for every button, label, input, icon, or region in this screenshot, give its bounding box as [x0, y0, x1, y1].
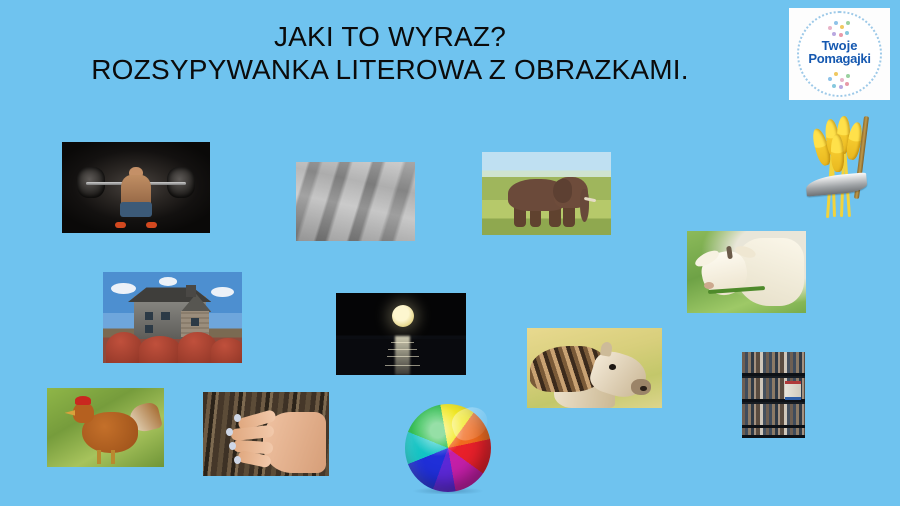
chicken-leg-2	[111, 450, 115, 464]
bush-4	[211, 338, 242, 363]
house-window-3	[145, 325, 153, 333]
bush-1	[106, 332, 142, 363]
elephant-trunk	[580, 189, 589, 222]
water-ripple-3	[387, 356, 420, 357]
chicken-leg-1	[97, 450, 101, 464]
picture-moon[interactable]	[336, 293, 466, 375]
picture-chicken[interactable]	[47, 388, 164, 467]
goat-scene	[687, 231, 806, 313]
cloud-3	[159, 277, 177, 285]
page-title: JAKI TO WYRAZ? ROZSYPYWANKA LITEROWA Z O…	[0, 20, 780, 86]
twoje-pomagajki-logo: Twoje Pomagajki	[789, 8, 890, 100]
house-scene	[103, 272, 242, 363]
elephant-scene	[482, 152, 611, 235]
chicken-head	[73, 402, 94, 423]
picture-goat[interactable]	[687, 231, 806, 313]
house-window-4	[191, 318, 199, 326]
logo-line-2: Pomagajki	[789, 52, 890, 65]
moon-scene	[336, 293, 466, 375]
scythe-clipart	[798, 112, 890, 224]
snowflake-icon-top	[826, 19, 852, 39]
water-ripple-1	[391, 342, 414, 343]
house-window-2	[161, 312, 169, 320]
chicken-comb	[75, 396, 91, 405]
bookshelf-row-4	[742, 428, 805, 438]
water-ripple-2	[388, 349, 417, 350]
title-line-1: JAKI TO WYRAZ?	[0, 20, 780, 53]
blanket-texture	[296, 162, 415, 241]
picture-horse[interactable]	[527, 328, 662, 408]
cloud-2	[211, 287, 233, 297]
picture-scythe-wheat[interactable]	[798, 112, 890, 224]
bookshelf-row-3	[742, 404, 805, 428]
house-window-1	[145, 312, 153, 320]
picture-books[interactable]	[742, 352, 805, 438]
picture-ball[interactable]	[403, 402, 493, 494]
ball-scene	[403, 402, 493, 494]
picture-hand-on-bark[interactable]	[203, 392, 329, 476]
weightlifter-scene	[62, 142, 210, 233]
picture-elephant[interactable]	[482, 152, 611, 235]
bark-scene	[203, 392, 329, 476]
moon-disc	[392, 305, 414, 327]
picture-weightlifter[interactable]	[62, 142, 210, 233]
chicken-scene	[47, 388, 164, 467]
fingernail-4	[234, 456, 241, 464]
slide-canvas: JAKI TO WYRAZ? ROZSYPYWANKA LITEROWA Z O…	[0, 0, 900, 506]
picture-house[interactable]	[103, 272, 242, 363]
lifter-shorts	[120, 202, 153, 217]
chicken-beak	[65, 410, 76, 416]
elephant-ear	[553, 179, 572, 203]
snowflake-icon-bottom	[826, 71, 852, 91]
bush-2	[139, 336, 181, 363]
white-book	[785, 381, 801, 400]
horse-scene	[527, 328, 662, 408]
fingernail-1	[234, 414, 241, 422]
lifter-shoe-right	[146, 222, 156, 228]
logo-text: Twoje Pomagajki	[789, 39, 890, 65]
lifter-shoe-left	[115, 222, 125, 228]
water-ripple-4	[385, 365, 420, 366]
title-line-2: ROZSYPYWANKA LITEROWA Z OBRAZKAMI.	[0, 53, 780, 86]
bookshelf-scene	[742, 352, 805, 438]
house-chimney	[186, 285, 196, 298]
picture-blanket[interactable]	[296, 162, 415, 241]
bookshelf-row-1	[742, 352, 805, 376]
elephant-leg-4	[563, 205, 575, 227]
cloud-1	[111, 283, 136, 294]
horse-eye	[609, 364, 616, 370]
